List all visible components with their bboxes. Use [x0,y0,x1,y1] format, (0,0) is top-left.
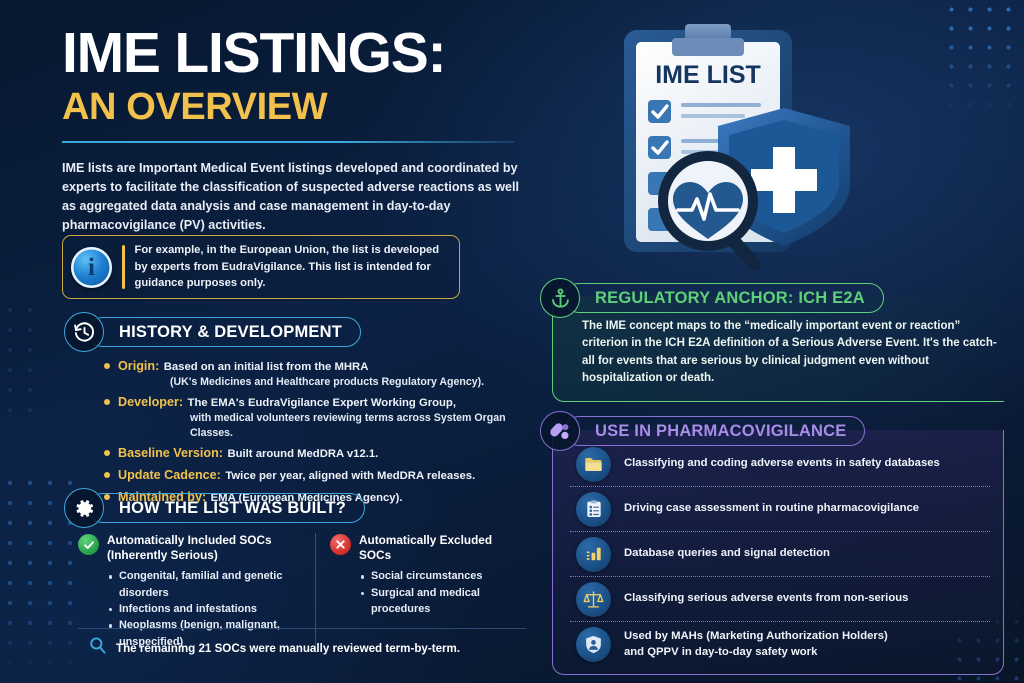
decorative-dot-grid-top-right [942,0,1024,118]
list-item-text-line2: and QPPV in day-to-day safety work [624,645,888,660]
built-columns: Automatically Included SOCs (Inherently … [78,533,526,650]
bar-chart-icon [576,537,611,572]
scales-icon [576,582,611,617]
section-header-history: HISTORY & DEVELOPMENT [64,312,361,352]
list-item: Used by MAHs (Marketing Authorization Ho… [570,622,990,667]
list-item: Congenital, familial and genetic disorde… [108,568,303,601]
info-icon: i [71,247,112,288]
folder-icon [576,447,611,482]
history-item-value: The EMA's EudraVigilance Expert Working … [188,397,456,409]
history-item-key: Baseline Version: [118,446,223,460]
included-title: Automatically Included SOCs (Inherently … [107,533,272,563]
excluded-socs-column: Automatically Excluded SOCs Social circu… [316,533,526,650]
built-footnote-text: The remaining 21 SOCs were manually revi… [116,642,460,655]
history-item: Origin: Based on an initial list from th… [104,357,524,389]
section-title-built: HOW THE LIST WAS BUILT? [88,493,365,523]
intro-paragraph: IME lists are Important Medical Event li… [62,159,526,236]
excluded-heading: Automatically Excluded SOCs [330,533,526,563]
list-item-text: Classifying serious adverse events from … [624,591,908,606]
list-item-text: Database queries and signal detection [624,546,830,561]
included-title-line1: Automatically Included SOCs [107,533,272,548]
pill-molecule-icon [540,411,580,451]
anchor-icon [540,278,580,318]
decorative-dot-grid-mid-left [0,300,40,420]
history-list: Origin: Based on an initial list from th… [104,357,524,510]
history-item-key: Developer: [118,395,183,409]
regulatory-body: The IME concept maps to the “medically i… [582,318,1002,387]
shield-person-icon [576,627,611,662]
history-item: Update Cadence: Twice per year, aligned … [104,466,524,484]
info-callout: i For example, in the European Union, th… [62,235,460,299]
clipboard-title: IME LIST [655,61,761,89]
list-item: Surgical and medical procedures [360,585,526,618]
list-item: Social circumstances [360,568,526,584]
list-item-text: Classifying and coding adverse events in… [624,456,940,471]
gear-icon [64,488,104,528]
section-title-history: HISTORY & DEVELOPMENT [88,317,361,347]
list-item-text: Driving case assessment in routine pharm… [624,501,919,516]
clipboard-checklist-icon [576,492,611,527]
excluded-list: Social circumstances Surgical and medica… [330,568,526,617]
x-circle-icon [330,534,351,555]
callout-accent-bar [122,245,125,289]
callout-text: For example, in the European Union, the … [135,242,450,291]
history-item-sub: with medical volunteers reviewing terms … [118,411,524,440]
history-item-key: Update Cadence: [118,468,221,482]
title-divider [62,141,514,143]
page-title-block: IME LISTINGS: AN OVERVIEW [62,26,532,143]
section-header-built: HOW THE LIST WAS BUILT? [64,488,365,528]
list-item: Driving case assessment in routine pharm… [570,487,990,532]
history-item-value: Twice per year, aligned with MedDRA rele… [225,470,475,482]
history-item: Baseline Version: Built around MedDRA v1… [104,444,524,462]
section-header-regulatory: REGULATORY ANCHOR: ICH E2A [540,278,884,318]
page-title: IME LISTINGS: [62,26,532,82]
list-item-text-line1: Used by MAHs (Marketing Authorization Ho… [624,629,888,644]
excluded-title: Automatically Excluded SOCs [359,533,526,563]
included-heading: Automatically Included SOCs (Inherently … [78,533,303,563]
list-item: Database queries and signal detection [570,532,990,577]
check-circle-icon [78,534,99,555]
list-item: Classifying serious adverse events from … [570,577,990,622]
built-divider [78,628,526,629]
infographic-root: IME LISTINGS: AN OVERVIEW IME lists are … [0,0,1024,683]
clipboard-illustration: IME LIST [598,16,866,270]
hero-svg: IME LIST [598,16,866,270]
list-item-text: Used by MAHs (Marketing Authorization Ho… [624,629,888,660]
section-title-regulatory: REGULATORY ANCHOR: ICH E2A [564,283,884,313]
pharmacovigilance-list: Classifying and coding adverse events in… [570,442,990,667]
list-item: Infections and infestations [108,601,303,617]
magnifier-heartbeat-icon [663,156,764,270]
history-item: Developer: The EMA's EudraVigilance Expe… [104,393,524,440]
history-clock-icon [64,312,104,352]
included-title-line2: (Inherently Serious) [107,548,272,563]
built-footnote: The remaining 21 SOCs were manually revi… [88,636,460,660]
page-subtitle: AN OVERVIEW [62,88,532,128]
history-item-value: Built around MedDRA v12.1. [227,448,378,460]
history-item-key: Origin: [118,359,159,373]
list-item: Classifying and coding adverse events in… [570,442,990,487]
history-item-sub: (UK's Medicines and Healthcare products … [118,375,524,389]
included-socs-column: Automatically Included SOCs (Inherently … [78,533,316,650]
magnifier-icon [88,636,107,660]
history-item-value: Based on an initial list from the MHRA [164,361,369,373]
